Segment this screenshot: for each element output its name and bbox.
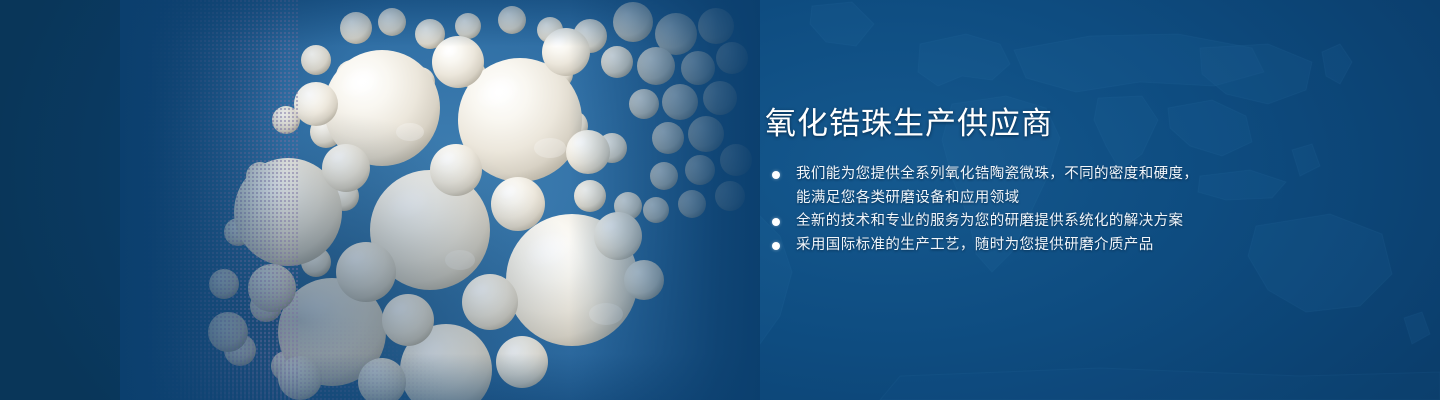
- feature-item: 我们能为您提供全系列氧化锆陶瓷微珠，不同的密度和硬度， 能满足您各类研磨设备和应…: [765, 163, 1325, 210]
- feature-list: 我们能为您提供全系列氧化锆陶瓷微珠，不同的密度和硬度， 能满足您各类研磨设备和应…: [765, 163, 1325, 257]
- bullet-dot-icon: [772, 218, 780, 226]
- feature-text-line1: 全新的技术和专业的服务为您的研磨提供系统化的解决方案: [796, 210, 1325, 234]
- feature-text-line2: 能满足您各类研磨设备和应用领域: [796, 187, 1325, 211]
- feature-text-line1: 采用国际标准的生产工艺，随时为您提供研磨介质产品: [796, 234, 1325, 258]
- bullet-dot-icon: [772, 171, 780, 179]
- bullet-dot-icon: [772, 242, 780, 250]
- feature-item: 采用国际标准的生产工艺，随时为您提供研磨介质产品: [765, 234, 1325, 258]
- feature-text-line1: 我们能为您提供全系列氧化锆陶瓷微珠，不同的密度和硬度，: [796, 163, 1325, 187]
- hero-banner: 氧化锆珠生产供应商 我们能为您提供全系列氧化锆陶瓷微珠，不同的密度和硬度， 能满…: [0, 0, 1440, 400]
- photo-shading: [120, 0, 760, 400]
- ceramic-beads-photo: [120, 0, 760, 400]
- banner-headline: 氧化锆珠生产供应商: [765, 104, 1325, 144]
- banner-copy: 氧化锆珠生产供应商 我们能为您提供全系列氧化锆陶瓷微珠，不同的密度和硬度， 能满…: [765, 104, 1325, 257]
- feature-item: 全新的技术和专业的服务为您的研磨提供系统化的解决方案: [765, 210, 1325, 234]
